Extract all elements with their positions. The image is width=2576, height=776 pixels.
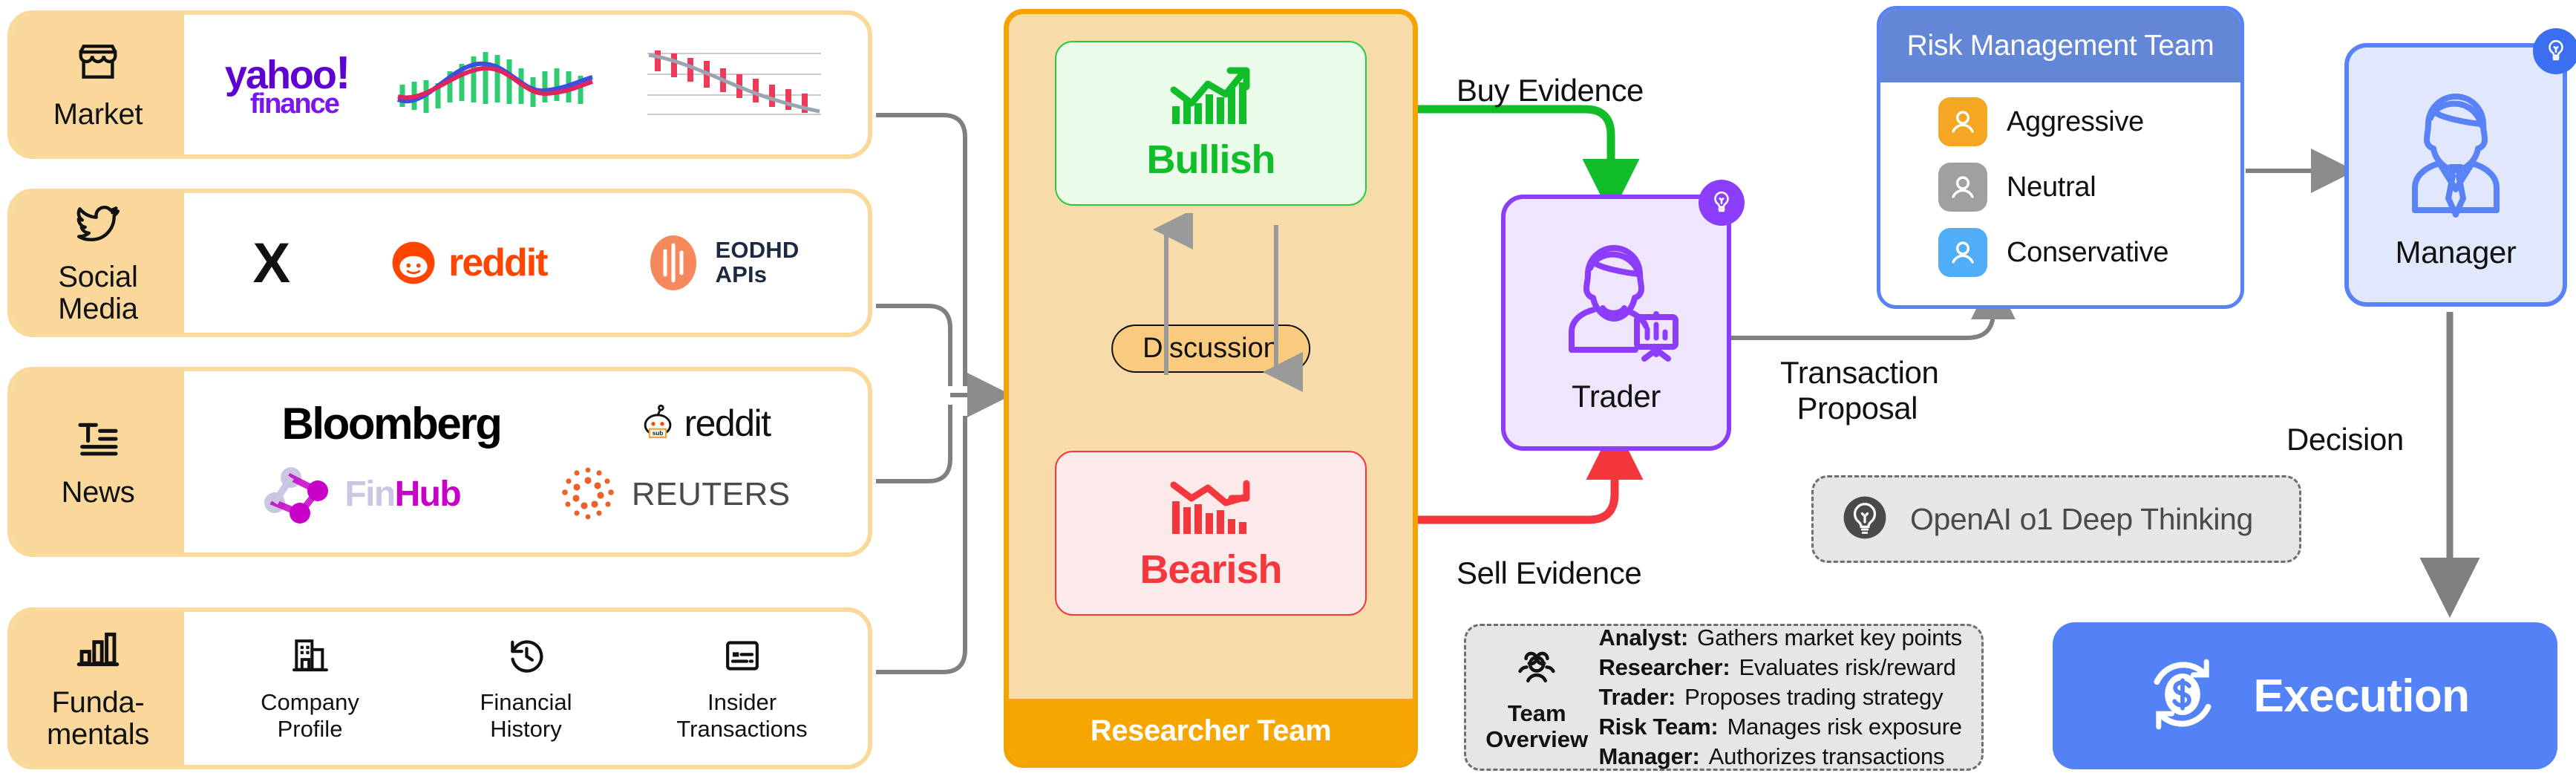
team-overview-row: Risk Team:Manages risk exposure: [1598, 714, 1962, 740]
bar-chart-icon: [75, 627, 121, 676]
deep-thinking-legend[interactable]: OpenAI o1 Deep Thinking: [1811, 475, 2301, 563]
data-source-logos-market: yahoo! finance: [184, 15, 868, 154]
team-overview-row: Manager:Authorizes transactions: [1598, 743, 1962, 770]
diagram-canvas: Market yahoo! finance: [0, 0, 2576, 776]
team-overview-legend[interactable]: Team Overview Analyst:Gathers market key…: [1464, 624, 1984, 771]
role-name: Manager:: [1598, 743, 1699, 769]
team-overview-row: Analyst:Gathers market key points: [1598, 625, 1962, 651]
financial-history-item[interactable]: Financial History: [437, 635, 615, 742]
role-desc: Manages risk exposure: [1727, 714, 1962, 740]
subreddit-logo: sub reddit: [636, 402, 770, 445]
risk-management-team-panel[interactable]: Risk Management Team Aggressive Neutral: [1877, 6, 2244, 309]
deep-thinking-badge-trader: [1699, 180, 1745, 226]
reuters-logo: REUTERS: [556, 463, 791, 526]
dollar-refresh-icon: [2141, 653, 2224, 740]
bearish-label: Bearish: [1140, 547, 1281, 593]
bullish-researcher-card[interactable]: Bullish: [1055, 41, 1367, 206]
role-desc: Proposes trading strategy: [1684, 684, 1943, 710]
insider-transactions-item[interactable]: Insider Transactions: [653, 635, 831, 742]
execution-card[interactable]: Execution: [2053, 622, 2557, 769]
role-name: Analyst:: [1598, 625, 1688, 651]
fund-item-label: Insider Transactions: [676, 689, 807, 742]
candlestick-chart-up-image: [395, 39, 595, 131]
transaction-proposal-label: Transaction Proposal: [1780, 355, 1938, 426]
lightbulb-dark-icon: [1842, 495, 1888, 544]
storefront-icon: [75, 39, 121, 88]
company-profile-item[interactable]: Company Profile: [221, 635, 399, 742]
document-lines-icon: [722, 635, 763, 680]
deep-thinking-badge-manager: [2533, 28, 2576, 74]
manager-label: Manager: [2396, 235, 2517, 270]
person-avatar-icon: [1938, 228, 1987, 277]
discussion-arrows: [1120, 213, 1343, 436]
data-source-row-market[interactable]: Market yahoo! finance: [7, 10, 872, 159]
lightbulb-icon: [2543, 37, 2569, 66]
lightbulb-icon: [1709, 189, 1734, 218]
finhub-logo: FinHub: [261, 464, 460, 525]
eodhd-apis-logo: EODHD APIs: [649, 227, 800, 299]
data-source-label: Social Media: [58, 261, 137, 325]
trader-card[interactable]: Trader: [1501, 195, 1731, 451]
risk-member-conservative[interactable]: Conservative: [1938, 228, 2240, 277]
role-name: Trader:: [1598, 684, 1676, 710]
researcher-team-panel[interactable]: Bullish Discussion: [1004, 9, 1418, 768]
data-source-row-news[interactable]: News Bloomberg sub reddit: [7, 367, 872, 557]
trader-label: Trader: [1572, 379, 1661, 414]
risk-member-neutral[interactable]: Neutral: [1938, 163, 2240, 212]
role-desc: Authorizes transactions: [1709, 743, 1945, 769]
svg-text:sub: sub: [653, 430, 664, 437]
researcher-team-label: Researcher Team: [1091, 714, 1332, 748]
data-source-logos-news: Bloomberg sub reddit: [184, 371, 868, 552]
person-avatar-icon: [1938, 97, 1987, 146]
bullish-label: Bullish: [1146, 137, 1275, 183]
risk-team-title: Risk Management Team: [1880, 10, 2240, 82]
execution-label: Execution: [2254, 670, 2470, 723]
role-name: Risk Team:: [1598, 714, 1718, 740]
risk-team-members: Aggressive Neutral Conservative: [1880, 82, 2240, 290]
data-source-logos-social: X reddit: [184, 193, 868, 333]
deep-thinking-label: OpenAI o1 Deep Thinking: [1910, 502, 2253, 537]
people-group-icon: [1511, 642, 1563, 694]
chart-trend-up-icon: [1169, 65, 1252, 132]
team-overview-rows: Analyst:Gathers market key points Resear…: [1588, 625, 1962, 770]
risk-member-label: Conservative: [2007, 237, 2168, 269]
team-overview-title: Team Overview: [1485, 701, 1588, 751]
history-clock-icon: [506, 635, 547, 680]
chart-trend-down-icon: [1169, 475, 1252, 542]
researcher-team-footer: Researcher Team: [1009, 699, 1413, 763]
reddit-logo: reddit: [390, 240, 546, 286]
x-twitter-logo: X: [252, 231, 289, 296]
risk-member-aggressive[interactable]: Aggressive: [1938, 97, 2240, 146]
role-desc: Evaluates risk/reward: [1739, 654, 1955, 680]
building-icon: [290, 635, 331, 680]
data-source-tag-fundamentals: Funda- mentals: [12, 612, 184, 765]
fund-item-label: Company Profile: [261, 689, 359, 742]
data-source-row-social-media[interactable]: Social Media X reddit: [7, 189, 872, 337]
bearish-researcher-card[interactable]: Bearish: [1055, 451, 1367, 616]
person-suit-icon: [2385, 79, 2526, 232]
person-avatar-icon: [1938, 163, 1987, 212]
data-source-label: Funda- mentals: [47, 687, 149, 750]
twitter-bird-icon: [75, 201, 121, 251]
data-source-items-fundamentals: Company Profile Financial History: [184, 612, 868, 765]
manager-card[interactable]: Manager: [2344, 43, 2567, 307]
team-overview-row: Trader:Proposes trading strategy: [1598, 684, 1962, 711]
data-source-label: News: [62, 477, 135, 508]
candlestick-chart-down-image: [641, 39, 827, 131]
role-name: Researcher:: [1598, 654, 1730, 680]
yahoo-finance-logo: yahoo! finance: [225, 53, 350, 117]
data-source-tag-social-media: Social Media: [12, 193, 184, 333]
person-presentation-icon: [1549, 231, 1683, 376]
data-source-label: Market: [53, 99, 143, 130]
sell-evidence-label: Sell Evidence: [1457, 555, 1641, 591]
role-desc: Gathers market key points: [1697, 625, 1962, 651]
data-source-row-fundamentals[interactable]: Funda- mentals Company Profile: [7, 607, 872, 769]
data-source-tag-market: Market: [12, 15, 184, 154]
team-overview-row: Researcher:Evaluates risk/reward: [1598, 654, 1962, 681]
risk-member-label: Aggressive: [2007, 106, 2144, 138]
data-source-tag-news: News: [12, 371, 184, 552]
team-overview-heading: Team Overview: [1485, 642, 1588, 751]
decision-label: Decision: [2286, 422, 2404, 457]
risk-member-label: Neutral: [2007, 172, 2096, 203]
article-icon: [74, 415, 122, 466]
fund-item-label: Financial History: [480, 689, 572, 742]
buy-evidence-label: Buy Evidence: [1457, 73, 1644, 108]
bloomberg-logo: Bloomberg: [281, 398, 500, 449]
